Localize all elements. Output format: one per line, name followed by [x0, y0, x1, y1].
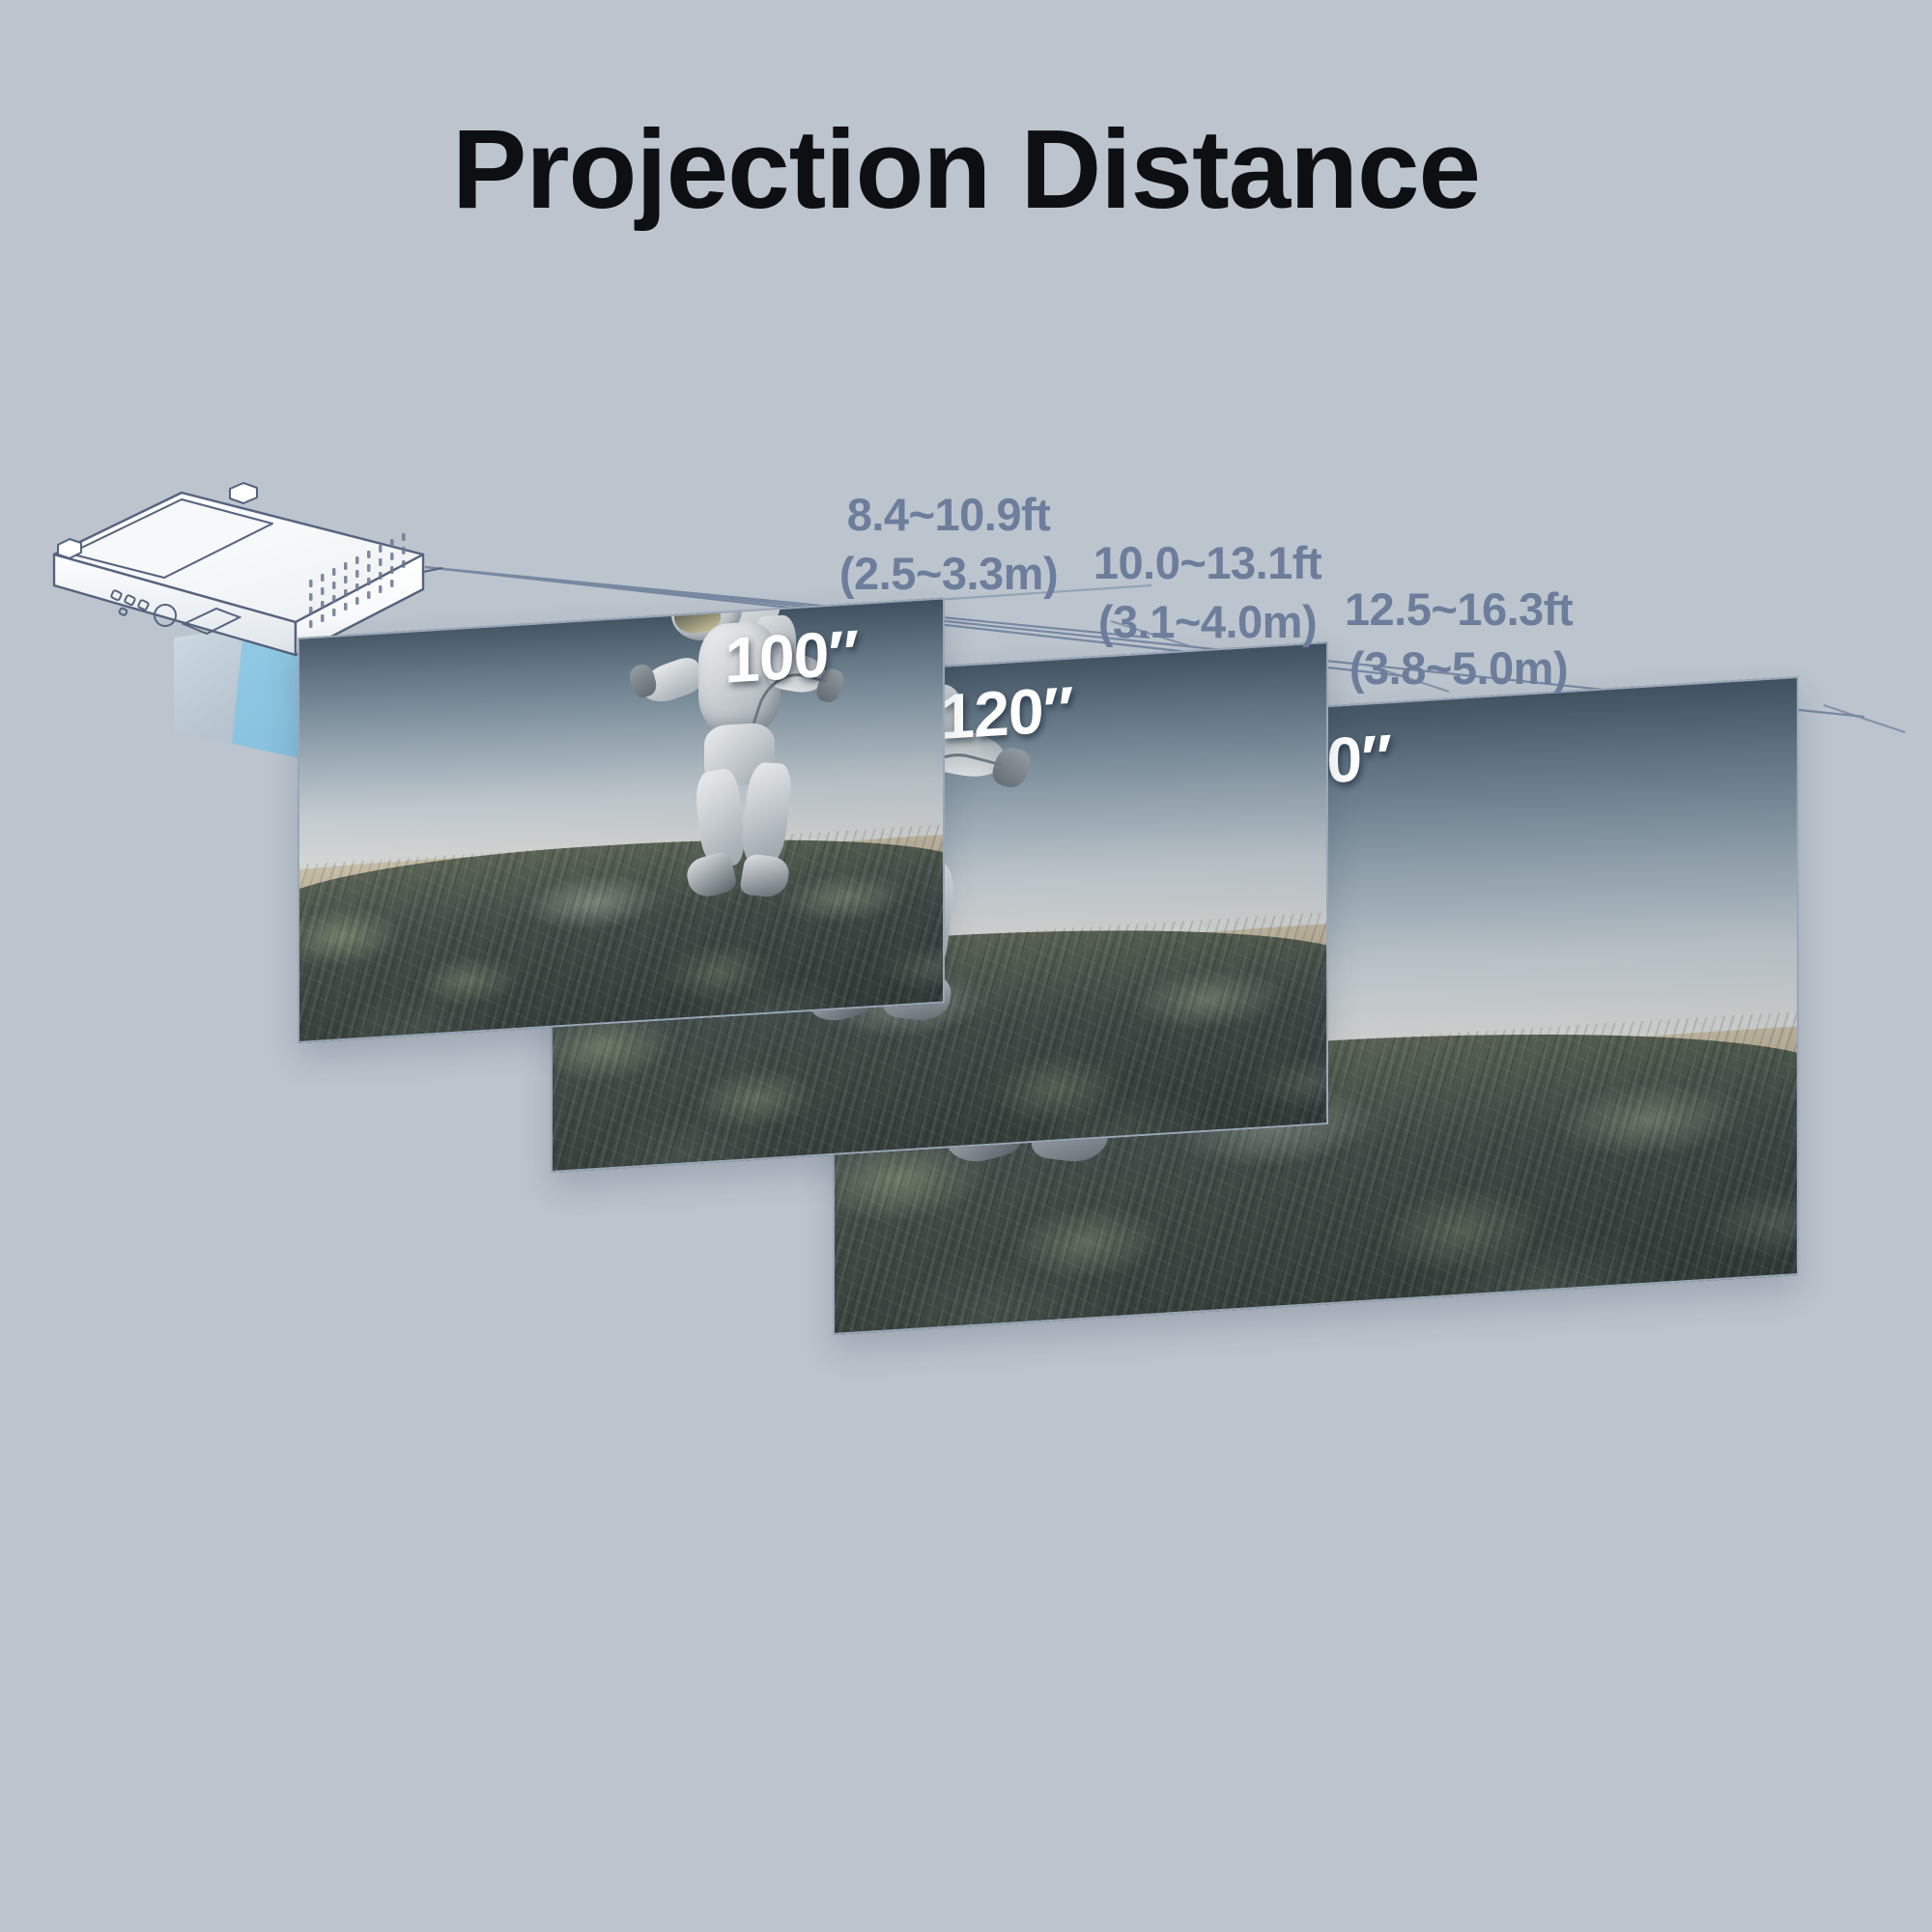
- distance-meters-150: (3.8~5.0m): [1256, 639, 1662, 697]
- distance-feet-150: 12.5~16.3ft: [1345, 583, 1573, 635]
- projection-screen-100[interactable]: 100″: [298, 597, 945, 1043]
- distance-callout-150: 12.5~16.3ft (3.8~5.0m): [1256, 580, 1662, 697]
- infographic-stage: Projection Distance: [0, 0, 1932, 1932]
- screen-size-label-120: 120″: [940, 671, 1073, 753]
- page-title: Projection Distance: [0, 108, 1932, 232]
- screen-size-label-100: 100″: [724, 615, 858, 697]
